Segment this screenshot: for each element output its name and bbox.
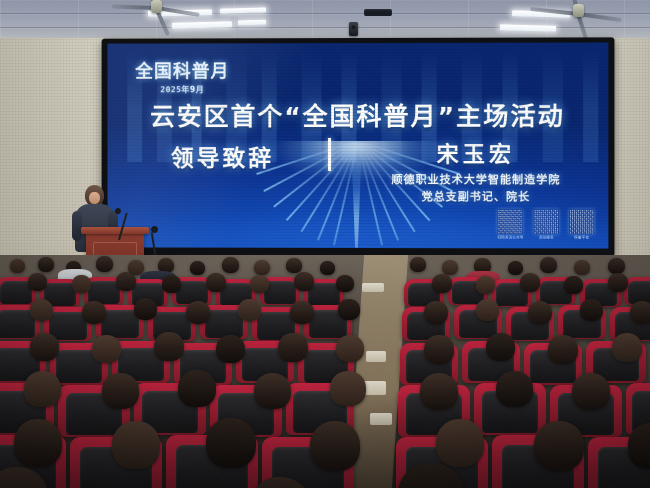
audience-head [520, 273, 540, 292]
audience-head [24, 371, 61, 407]
audience-head [338, 299, 360, 320]
audience-head [320, 261, 335, 275]
audience-head [14, 419, 62, 467]
logo-date-month-char: 月 [196, 85, 204, 94]
ceiling-light-panel [238, 20, 266, 26]
audience-head [250, 275, 269, 293]
audience-head [206, 273, 226, 292]
fan-hub [573, 4, 584, 17]
audience-head [112, 421, 160, 469]
audience-head [508, 261, 523, 275]
audience-head [82, 301, 106, 324]
audience-head [330, 371, 366, 406]
audience-head [612, 333, 642, 362]
audience-head [540, 257, 557, 273]
presenter-face [89, 192, 100, 204]
audience-head [134, 298, 157, 320]
speaker-organization: 顺德职业技术大学智能制造学院 [356, 171, 596, 187]
audience-head [254, 373, 291, 409]
speaker-title: 党总支副书记、院长 [356, 188, 596, 204]
audience-head [608, 273, 628, 292]
audience-head [38, 257, 54, 272]
audience-head [116, 272, 136, 291]
ceiling-fan-right [578, 12, 579, 13]
audience-head [410, 257, 426, 272]
audience-head [432, 274, 452, 293]
audience-head [286, 258, 302, 273]
ceiling-tile-grid [0, 0, 650, 40]
ceiling-vent [364, 9, 392, 16]
speaker-name: 宋玉宏 [356, 137, 596, 169]
audience-head [608, 258, 625, 274]
logo-date-year-char: 年 [181, 85, 189, 94]
qr-code-1-caption: 扫码关注公众号 [498, 235, 524, 240]
audience-head [186, 301, 210, 324]
audience-head [336, 335, 364, 362]
audience-head [424, 335, 454, 364]
ceiling-fan-left [156, 6, 157, 7]
event-headline: 云安区首个“全国科普月”主场活动 [108, 97, 609, 133]
qr-code-2-caption: 活动报名 [534, 235, 559, 240]
audience-head [424, 301, 448, 324]
logo-date-prefix: 2025 [160, 85, 181, 94]
speaker-block: 宋玉宏 顺德职业技术大学智能制造学院 党总支副书记、院长 [356, 137, 596, 204]
audience-head [154, 332, 184, 361]
campaign-logo-title: 全国科普月 [135, 57, 229, 83]
audience-head [528, 301, 552, 324]
audience-head [96, 256, 113, 272]
campaign-logo: 全国科普月 2025年9月 [135, 57, 229, 95]
led-display-screen: 全国科普月 2025年9月 云安区首个“全国科普月”主场活动 领导致辞 宋玉宏 … [102, 37, 615, 256]
audience-head [442, 260, 458, 275]
aisle-table-item [366, 351, 386, 362]
audience-head [30, 299, 53, 321]
audience-area [0, 255, 650, 488]
audience-head [534, 421, 584, 471]
campaign-logo-date: 2025年9月 [135, 84, 229, 95]
presenter-arm-left [72, 211, 82, 241]
audience-head [216, 335, 245, 363]
wall-mounted-camera-icon [349, 22, 358, 36]
qr-code-3-icon [569, 209, 594, 234]
audience-head [476, 276, 495, 294]
audience-head [420, 373, 458, 410]
audience-head [336, 275, 354, 292]
audience-head [102, 373, 139, 409]
auditorium-photo: 全国科普月 2025年9月 云安区首个“全国科普月”主场活动 领导致辞 宋玉宏 … [0, 0, 650, 488]
led-screen-content: 全国科普月 2025年9月 云安区首个“全国科普月”主场活动 领导致辞 宋玉宏 … [108, 42, 609, 248]
audience-head [572, 373, 610, 410]
qr-code-2-icon [534, 209, 559, 234]
audience-head [496, 371, 533, 407]
audience-head [574, 260, 590, 275]
audience-head [92, 335, 121, 363]
audience-head [290, 301, 314, 324]
audience-head [254, 260, 270, 275]
audience-head [278, 333, 308, 362]
audience-head [564, 276, 583, 294]
audience-head [238, 299, 261, 321]
aisle-table-item [370, 413, 392, 425]
audience-head [178, 370, 216, 407]
audience-head [310, 421, 360, 471]
audience-head [476, 299, 499, 321]
qr-code-item: 扫码关注公众号 [498, 209, 524, 240]
fan-hub [151, 0, 162, 13]
qr-code-strip: 扫码关注公众号 活动报名 科普平台 [498, 209, 595, 240]
presenter-head [85, 185, 104, 206]
vertical-divider [328, 138, 331, 171]
speaker-row: 领导致辞 宋玉宏 顺德职业技术大学智能制造学院 党总支副书记、院长 [108, 139, 609, 197]
audience-head [28, 273, 47, 291]
qr-code-item: 活动报名 [534, 209, 559, 240]
audience-head [486, 333, 515, 361]
qr-code-1-icon [498, 209, 523, 234]
audience-head [222, 257, 239, 273]
audience-head [10, 259, 25, 273]
audience-head [72, 275, 91, 293]
audience-head [190, 261, 205, 275]
aisle-table-item [362, 283, 384, 292]
audience-head [162, 275, 181, 293]
audience-head [630, 301, 650, 324]
audience-head [548, 335, 578, 364]
audience-head [436, 419, 484, 467]
audience-head [294, 272, 314, 291]
audience-head [580, 299, 603, 321]
ceiling [0, 0, 650, 40]
role-label: 领导致辞 [171, 139, 274, 173]
podium-top-surface [81, 227, 149, 234]
audience-head [30, 333, 59, 361]
microphone-head-icon [115, 208, 121, 214]
qr-code-item: 科普平台 [569, 209, 594, 240]
qr-code-3-caption: 科普平台 [569, 235, 594, 240]
audience-head [206, 418, 256, 468]
